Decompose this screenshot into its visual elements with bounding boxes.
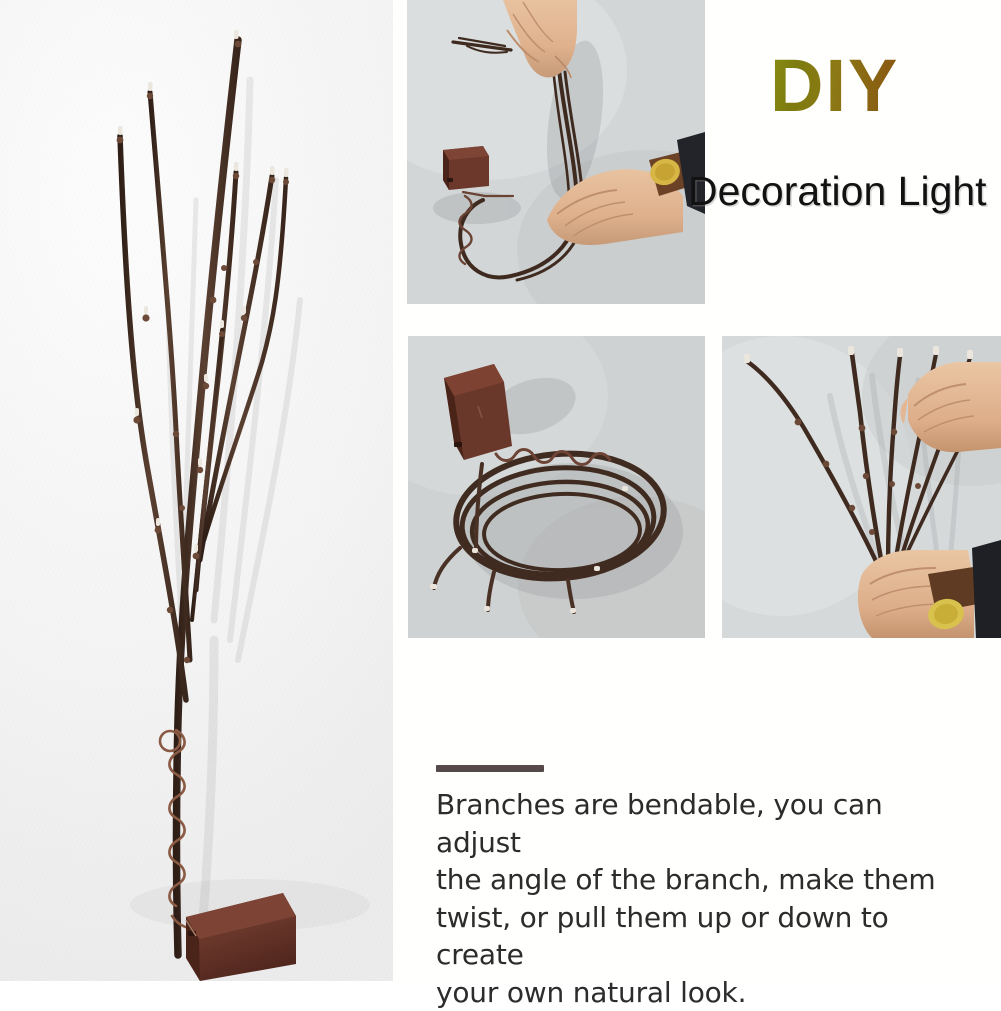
twig-light-illustration xyxy=(0,0,393,981)
accent-rule xyxy=(436,765,544,772)
battery-box xyxy=(443,146,489,190)
untangle-illustration xyxy=(407,0,705,304)
arrange-illustration xyxy=(722,336,1001,638)
subtitle-decoration-light: Decoration Light xyxy=(688,168,987,214)
description-line: your own natural look. xyxy=(436,974,966,1011)
diy-title: DIY xyxy=(770,48,920,124)
step-photo-arrange xyxy=(722,336,1001,638)
description-text: Branches are bendable, you can adjust th… xyxy=(436,786,966,1011)
step-photo-coiled xyxy=(408,336,705,638)
description-line: Branches are bendable, you can adjust xyxy=(436,786,966,861)
step-photo-untangle xyxy=(407,0,705,304)
sleeve xyxy=(972,540,1001,638)
description-line: the angle of the branch, make them xyxy=(436,861,966,899)
product-hero-photo xyxy=(0,0,393,981)
coiled-illustration xyxy=(408,336,705,638)
infographic-canvas: DIY DIY Decoration Light Branches are be… xyxy=(0,0,1001,981)
battery-box xyxy=(444,364,512,460)
description-line: twist, or pull them up or down to create xyxy=(436,899,966,974)
